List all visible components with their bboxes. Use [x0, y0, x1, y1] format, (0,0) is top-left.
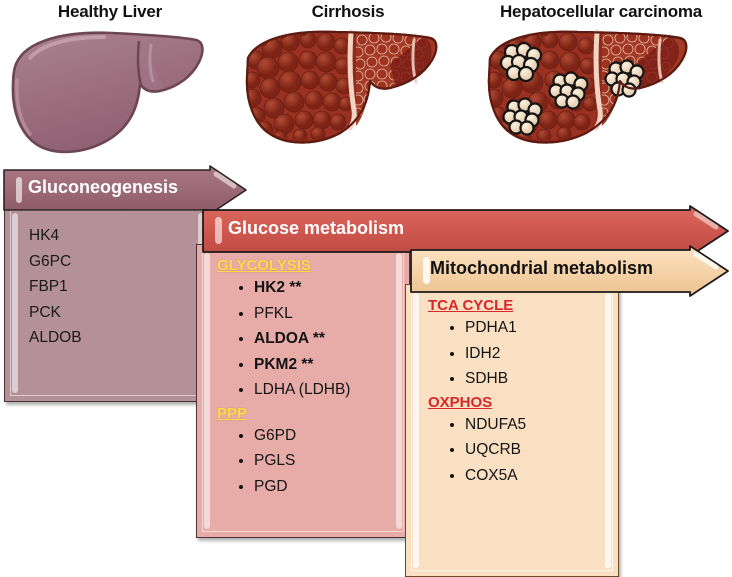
liver-title-healthy: Healthy Liver — [0, 2, 220, 22]
gene-item: HK4 — [29, 223, 82, 249]
gene-item: HK2 ** — [237, 275, 350, 301]
gene-item: ALDOB — [29, 325, 82, 351]
tca-cycle-gene-list: PDHA1 IDH2 SDHB — [428, 315, 526, 392]
gene-item: PCK — [29, 300, 82, 326]
tca-cycle-section: TCA CYCLE PDHA1 IDH2 SDHB — [428, 297, 526, 392]
gene-item: PGLS — [237, 448, 350, 474]
ppp-section: PPP G6PD PGLS PGD — [217, 405, 350, 500]
gene-item: ALDOA ** — [237, 326, 350, 352]
bevel-right — [605, 293, 611, 568]
glucose-metabolism-banner-label: Glucose metabolism — [228, 218, 404, 239]
hcc-liver-icon — [480, 24, 705, 149]
gene-item: G6PC — [29, 249, 82, 275]
bevel-right — [396, 253, 402, 529]
oxphos-heading: OXPHOS — [428, 394, 492, 411]
oxphos-section: OXPHOS NDUFA5 UQCRB COX5A — [428, 394, 526, 489]
tca-cycle-heading: TCA CYCLE — [428, 297, 513, 314]
liver-title-cirrhosis: Cirrhosis — [238, 2, 458, 22]
bevel-left — [12, 213, 18, 393]
mitochondrial-metabolism-body-panel: TCA CYCLE PDHA1 IDH2 SDHB OXPHOS NDUFA5 … — [405, 284, 619, 577]
oxphos-gene-list: NDUFA5 UQCRB COX5A — [428, 412, 526, 489]
figure-canvas: Healthy Liver Cirrhosis Hepatocellular c… — [0, 0, 732, 577]
liver-title-hcc: Hepatocellular carcinoma — [470, 2, 732, 22]
gene-item: PDHA1 — [448, 315, 526, 341]
gene-item: UQCRB — [448, 437, 526, 463]
gene-item: SDHB — [448, 366, 526, 392]
gene-item: NDUFA5 — [448, 412, 526, 438]
gluconeogenesis-body-panel: HK4 G6PC FBP1 PCK ALDOB — [4, 204, 212, 402]
bevel-left — [413, 293, 419, 568]
gluconeogenesis-gene-list: HK4 G6PC FBP1 PCK ALDOB — [29, 223, 82, 351]
gene-item: COX5A — [448, 463, 526, 489]
glycolysis-section: GLYCOLYSIS HK2 ** PFKL ALDOA ** PKM2 ** … — [217, 257, 350, 403]
glucose-metabolism-body-panel: GLYCOLYSIS HK2 ** PFKL ALDOA ** PKM2 ** … — [196, 244, 410, 538]
glycolysis-gene-list: HK2 ** PFKL ALDOA ** PKM2 ** LDHA (LDHB) — [217, 275, 350, 403]
mitochondrial-metabolism-banner-label: Mitochondrial metabolism — [430, 258, 653, 279]
ppp-gene-list: G6PD PGLS PGD — [217, 423, 350, 500]
gene-item: PGD — [237, 474, 350, 500]
gene-item: PFKL — [237, 301, 350, 327]
gene-item: PKM2 ** — [237, 352, 350, 378]
gene-item: IDH2 — [448, 341, 526, 367]
gene-item: FBP1 — [29, 274, 82, 300]
ppp-heading: PPP — [217, 405, 247, 422]
gluconeogenesis-banner-label: Gluconeogenesis — [28, 177, 178, 198]
healthy-liver-icon — [4, 24, 219, 159]
gene-item: G6PD — [237, 423, 350, 449]
gene-item: LDHA (LDHB) — [237, 377, 350, 403]
bevel-left — [204, 253, 210, 529]
cirrhotic-liver-icon — [238, 24, 453, 149]
glycolysis-heading: GLYCOLYSIS — [217, 257, 311, 274]
